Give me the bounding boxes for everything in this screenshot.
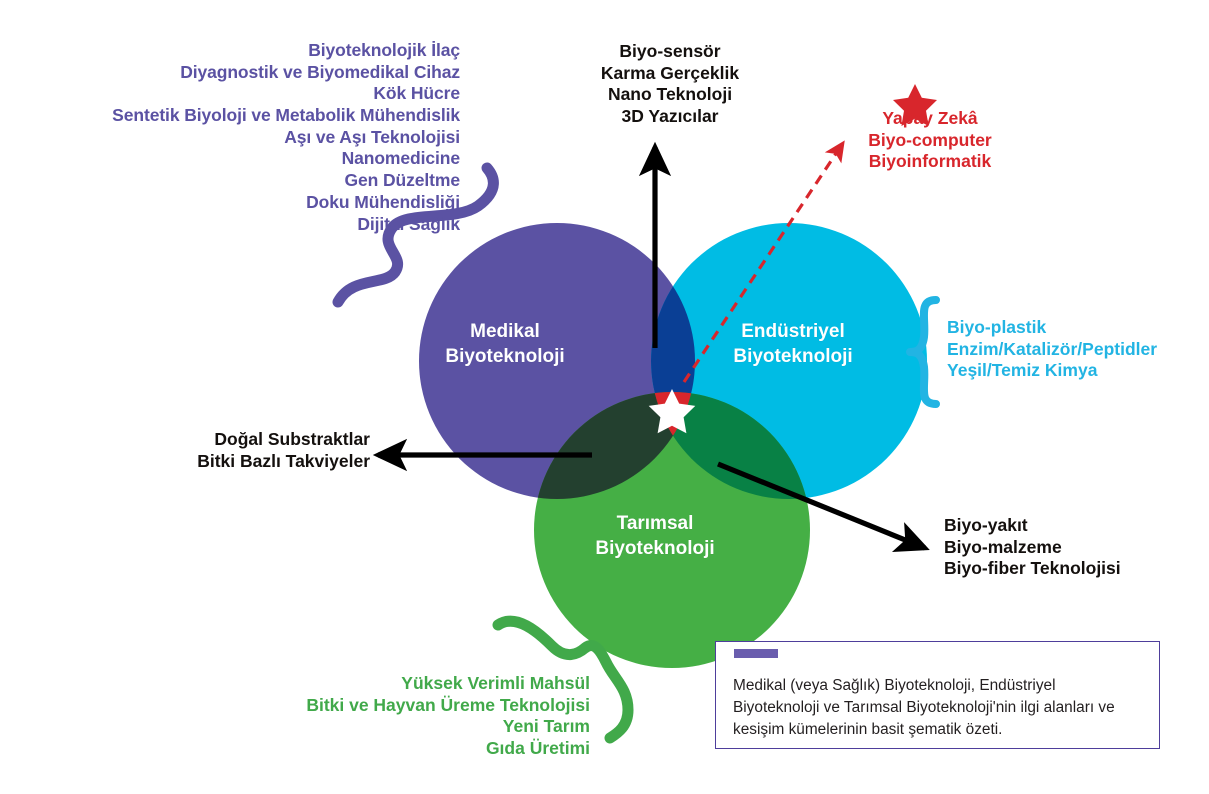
circle-label-industrial: Endüstriyel Biyoteknoloji (688, 320, 898, 369)
natural-substrates-topics: Doğal Substraktlar Bitki Bazlı Takviyele… (180, 429, 370, 472)
ai-intersection-topics: Yapay Zekâ Biyo-computer Biyoinformatik (840, 108, 1020, 173)
industrial-biotechnology-topics: Biyo-plastik Enzim/Katalizör/Peptidler Y… (947, 317, 1197, 382)
circle-label-medical: Medikal Biyoteknoloji (410, 320, 600, 369)
biofuel-topics: Biyo-yakıt Biyo-malzeme Biyo-fiber Tekno… (944, 515, 1184, 580)
caption-text: Medikal (veya Sağlık) Biyoteknoloji, End… (733, 675, 1143, 741)
convergent-technologies-topics: Biyo-sensör Karma Gerçeklik Nano Teknolo… (570, 41, 770, 128)
diagram-canvas: Biyoteknolojik İlaç Diyagnostik ve Biyom… (0, 0, 1209, 794)
circle-label-agricultural: Tarımsal Biyoteknoloji (560, 512, 750, 561)
medical-biotechnology-topics: Biyoteknolojik İlaç Diyagnostik ve Biyom… (60, 40, 460, 235)
caption-box: Medikal (veya Sağlık) Biyoteknoloji, End… (715, 641, 1160, 749)
caption-accent-bar (734, 649, 778, 658)
agricultural-biotechnology-topics: Yüksek Verimli Mahsül Bitki ve Hayvan Ür… (270, 673, 590, 760)
